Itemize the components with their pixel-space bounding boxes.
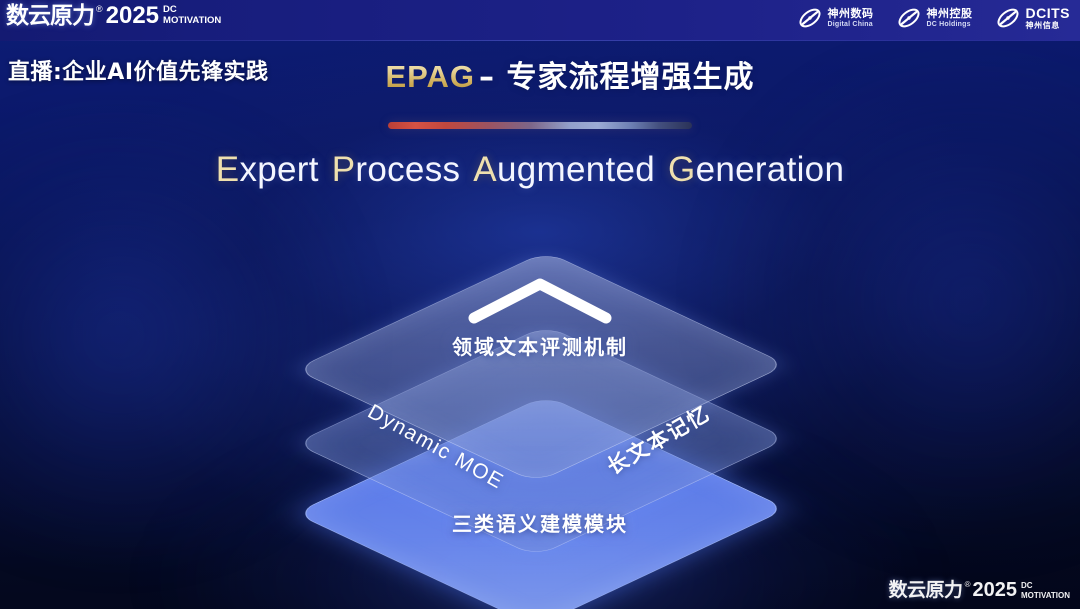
watermark-dc-line1: DC bbox=[1021, 582, 1070, 591]
corner-watermark: 数云原力 ® 2025 DC MOTIVATION bbox=[889, 580, 1070, 601]
partner-name-cn-secondary: 神州信息 bbox=[1026, 22, 1071, 30]
subtitle-initial: G bbox=[668, 150, 696, 189]
header-band: 数云原力 ® 2025 DC MOTIVATION 神州数码 bbox=[0, 0, 1080, 41]
partner-logo-digital-china: 神州数码 Digital China bbox=[797, 5, 874, 31]
partner-name-en: Digital China bbox=[828, 21, 874, 28]
brand-dc-motivation: DC MOTIVATION bbox=[163, 3, 221, 26]
partner-name-cn: 神州数码 bbox=[828, 8, 874, 19]
subtitle-word-rest: eneration bbox=[696, 150, 845, 189]
brand-logo: 数云原力 ® 2025 DC MOTIVATION bbox=[6, 3, 221, 29]
watermark-dc-motivation: DC MOTIVATION bbox=[1021, 580, 1070, 600]
partner-name-en: DC Holdings bbox=[927, 21, 973, 28]
brand-year: 2025 bbox=[106, 3, 159, 29]
partner-logo-dcits: DCITS 神州信息 bbox=[995, 5, 1071, 31]
brand-dc-line2: MOTIVATION bbox=[163, 15, 221, 26]
subtitle-initial: P bbox=[332, 150, 356, 189]
title-chinese: – 专家流程增强生成 bbox=[479, 60, 754, 95]
watermark-dc-line2: MOTIVATION bbox=[1021, 591, 1070, 601]
subtitle-initial: E bbox=[216, 150, 240, 189]
title-divider-bar bbox=[388, 122, 692, 129]
subtitle-initial: A bbox=[473, 150, 497, 189]
subtitle-word-rest: rocess bbox=[355, 150, 460, 189]
title-acronym: EPAG bbox=[385, 59, 475, 94]
swirl-icon bbox=[995, 5, 1021, 31]
slide-root: 数云原力 ® 2025 DC MOTIVATION 神州数码 bbox=[0, 0, 1080, 609]
watermark-name-cn: 数云原力 bbox=[889, 580, 963, 601]
partner-logo-group: 神州数码 Digital China 神州控股 DC Holdings bbox=[797, 5, 1071, 31]
partner-logo-dc-holdings: 神州控股 DC Holdings bbox=[896, 5, 973, 31]
subtitle: ExpertProcessAugmentedGeneration bbox=[0, 150, 1080, 190]
watermark-year: 2025 bbox=[972, 580, 1017, 601]
brand-dc-line1: DC bbox=[163, 5, 221, 15]
page-title: EPAG– 专家流程增强生成 bbox=[0, 52, 1080, 96]
watermark-registered-mark: ® bbox=[965, 580, 971, 590]
swirl-icon bbox=[797, 5, 823, 31]
brand-name-cn: 数云原力 bbox=[6, 3, 94, 29]
subtitle-word-rest: xpert bbox=[239, 150, 318, 189]
brand-registered-mark: ® bbox=[96, 3, 103, 15]
layered-stack-diagram bbox=[280, 228, 800, 583]
swirl-icon bbox=[896, 5, 922, 31]
partner-name-en-primary: DCITS bbox=[1026, 6, 1071, 20]
subtitle-word-rest: ugmented bbox=[497, 150, 655, 189]
partner-name-cn: 神州控股 bbox=[927, 8, 973, 19]
